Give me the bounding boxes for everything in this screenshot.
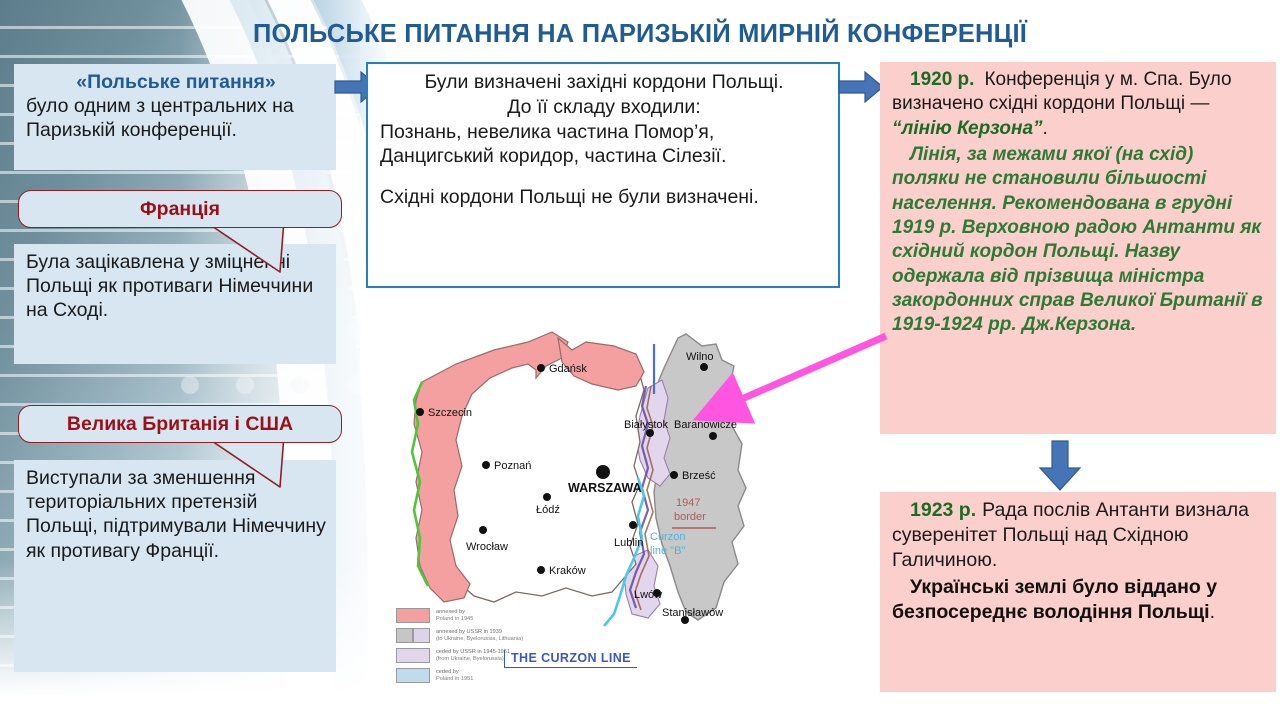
center-spacer: [380, 169, 828, 185]
slide-canvas: ПОЛЬСЬКЕ ПИТАННЯ НА ПАРИЗЬКІЙ МИРНІЙ КОН…: [0, 0, 1280, 720]
map-city-label: Lwów: [634, 589, 662, 601]
panel-1923-highlight: Українські землі було віддано у безпосер…: [892, 576, 1217, 623]
map-capital-label: WARSZAWA: [568, 481, 642, 495]
map-city-label: Brześć: [682, 470, 716, 482]
slide-title-bar: ПОЛЬСЬКЕ ПИТАННЯ НА ПАРИЗЬКІЙ МИРНІЙ КОН…: [0, 12, 1280, 56]
map-annotation-curzon-b: line "B": [650, 545, 685, 557]
uk-usa-label-text: Велика Британія і США: [67, 413, 293, 436]
intro-box-body: було одним з центральних на Паризькій ко…: [26, 94, 326, 142]
western-borders-box: Були визначені західні кордони Польщі. Д…: [366, 62, 840, 288]
map-legend: annexed by Poland in 1945 annexed by USS…: [396, 608, 576, 688]
map-annotation-curzon-b: Curzon: [650, 531, 685, 543]
france-body-text: Була зацікавлена у зміцненні Польщі як п…: [26, 251, 313, 321]
uk-usa-body-box: Виступали за зменшення територіальних пр…: [14, 460, 336, 672]
legend-swatch-annexed-poland-1945: [396, 608, 430, 623]
center-line-5: Східні кордони Польщі не були визначені.: [380, 185, 828, 210]
down-arrow-1920-to-1923: [1038, 440, 1082, 492]
panel-1920-term: “лінію Керзона”: [892, 118, 1043, 139]
legend-label-text: annexed by: [436, 609, 465, 615]
center-line-3: Познань, невелика частина Помор’я,: [380, 120, 828, 145]
legend-swatch-ceded-ussr-1945-1951: [396, 648, 430, 663]
callout-label-uk-usa: Велика Британія і США: [18, 405, 342, 443]
panel-1923-year: 1923 р.: [910, 499, 976, 521]
uk-usa-body-text: Виступали за зменшення територіальних пр…: [26, 467, 326, 562]
right-arrow-center-to-1920: [838, 70, 884, 104]
map-annotation-1947-border: 1947: [676, 497, 700, 509]
france-body-box: Була зацікавлена у зміцненні Польщі як п…: [14, 244, 336, 364]
center-line-2: До її складу входили:: [380, 95, 828, 120]
panel-1920-term-suffix: .: [1043, 118, 1048, 139]
legend-sub-text: Poland in 1945: [436, 616, 473, 622]
legend-sub-text: Poland in 1951: [436, 676, 473, 682]
legend-sub-text: (from Ukraine, Byelorussia): [436, 656, 504, 662]
legend-sub-text: (to Ukraine, Byelorussia, Lithuania): [436, 636, 523, 642]
intro-box-lead: «Польське питання»: [26, 70, 326, 94]
map-city-label: Stanisławów: [662, 607, 723, 619]
poland-borders-map: Szczecin Gdańsk Poznań Łódź Wrocław Krak…: [386, 320, 856, 710]
panel-1923-highlight-suffix: .: [1210, 601, 1215, 623]
legend-swatch-ceded-poland-1951: [396, 668, 430, 683]
panel-1920-note: Лінія, за межами якої (на схід) поляки н…: [892, 144, 1263, 335]
map-annotation-1947-border: border: [674, 511, 706, 523]
map-curzon-line-title: THE CURZON LINE: [504, 650, 637, 668]
page-title: ПОЛЬСЬКЕ ПИТАННЯ НА ПАРИЗЬКІЙ МИРНІЙ КОН…: [253, 20, 1027, 49]
map-city-label: Baranowicze: [674, 419, 737, 431]
map-city-label: Lublin: [614, 537, 643, 549]
map-city-label: Szczecin: [428, 407, 472, 419]
map-city-label: Gdańsk: [549, 363, 587, 375]
legend-swatch-annexed-ussr-1939: [396, 628, 430, 643]
panel-1920: 1920 р.Конференція у м. Спа. Було визнач…: [880, 62, 1276, 434]
map-city-label: Białystok: [624, 419, 669, 431]
map-city-label: Wrocław: [466, 541, 508, 553]
center-line-4: Данцигський коридор, частина Сілезії.: [380, 144, 828, 169]
map-city-label: Łódź: [536, 504, 560, 516]
legend-item: ceded by Poland in 1951: [396, 668, 576, 683]
map-city-label: Wilno: [686, 351, 714, 363]
map-city-label: Poznań: [494, 460, 531, 472]
legend-label-text: ceded by USSR in 1945-1951: [436, 649, 510, 655]
map-city-label: Kraków: [549, 565, 586, 577]
legend-item: annexed by USSR in 1939 (to Ukraine, Bye…: [396, 628, 576, 643]
panel-1920-year: 1920 р.: [910, 69, 974, 90]
center-line-1: Були визначені західні кордони Польщі.: [380, 70, 828, 95]
legend-label-text: ceded by: [436, 669, 459, 675]
france-label-text: Франція: [140, 198, 220, 221]
intro-box: «Польське питання» було одним з централь…: [14, 64, 336, 170]
panel-1923: 1923 р.Рада послів Антанти визнала сувер…: [880, 492, 1276, 692]
legend-label-text: annexed by USSR in 1939: [436, 629, 502, 635]
legend-item: annexed by Poland in 1945: [396, 608, 576, 623]
callout-label-france: Франція: [18, 190, 342, 228]
